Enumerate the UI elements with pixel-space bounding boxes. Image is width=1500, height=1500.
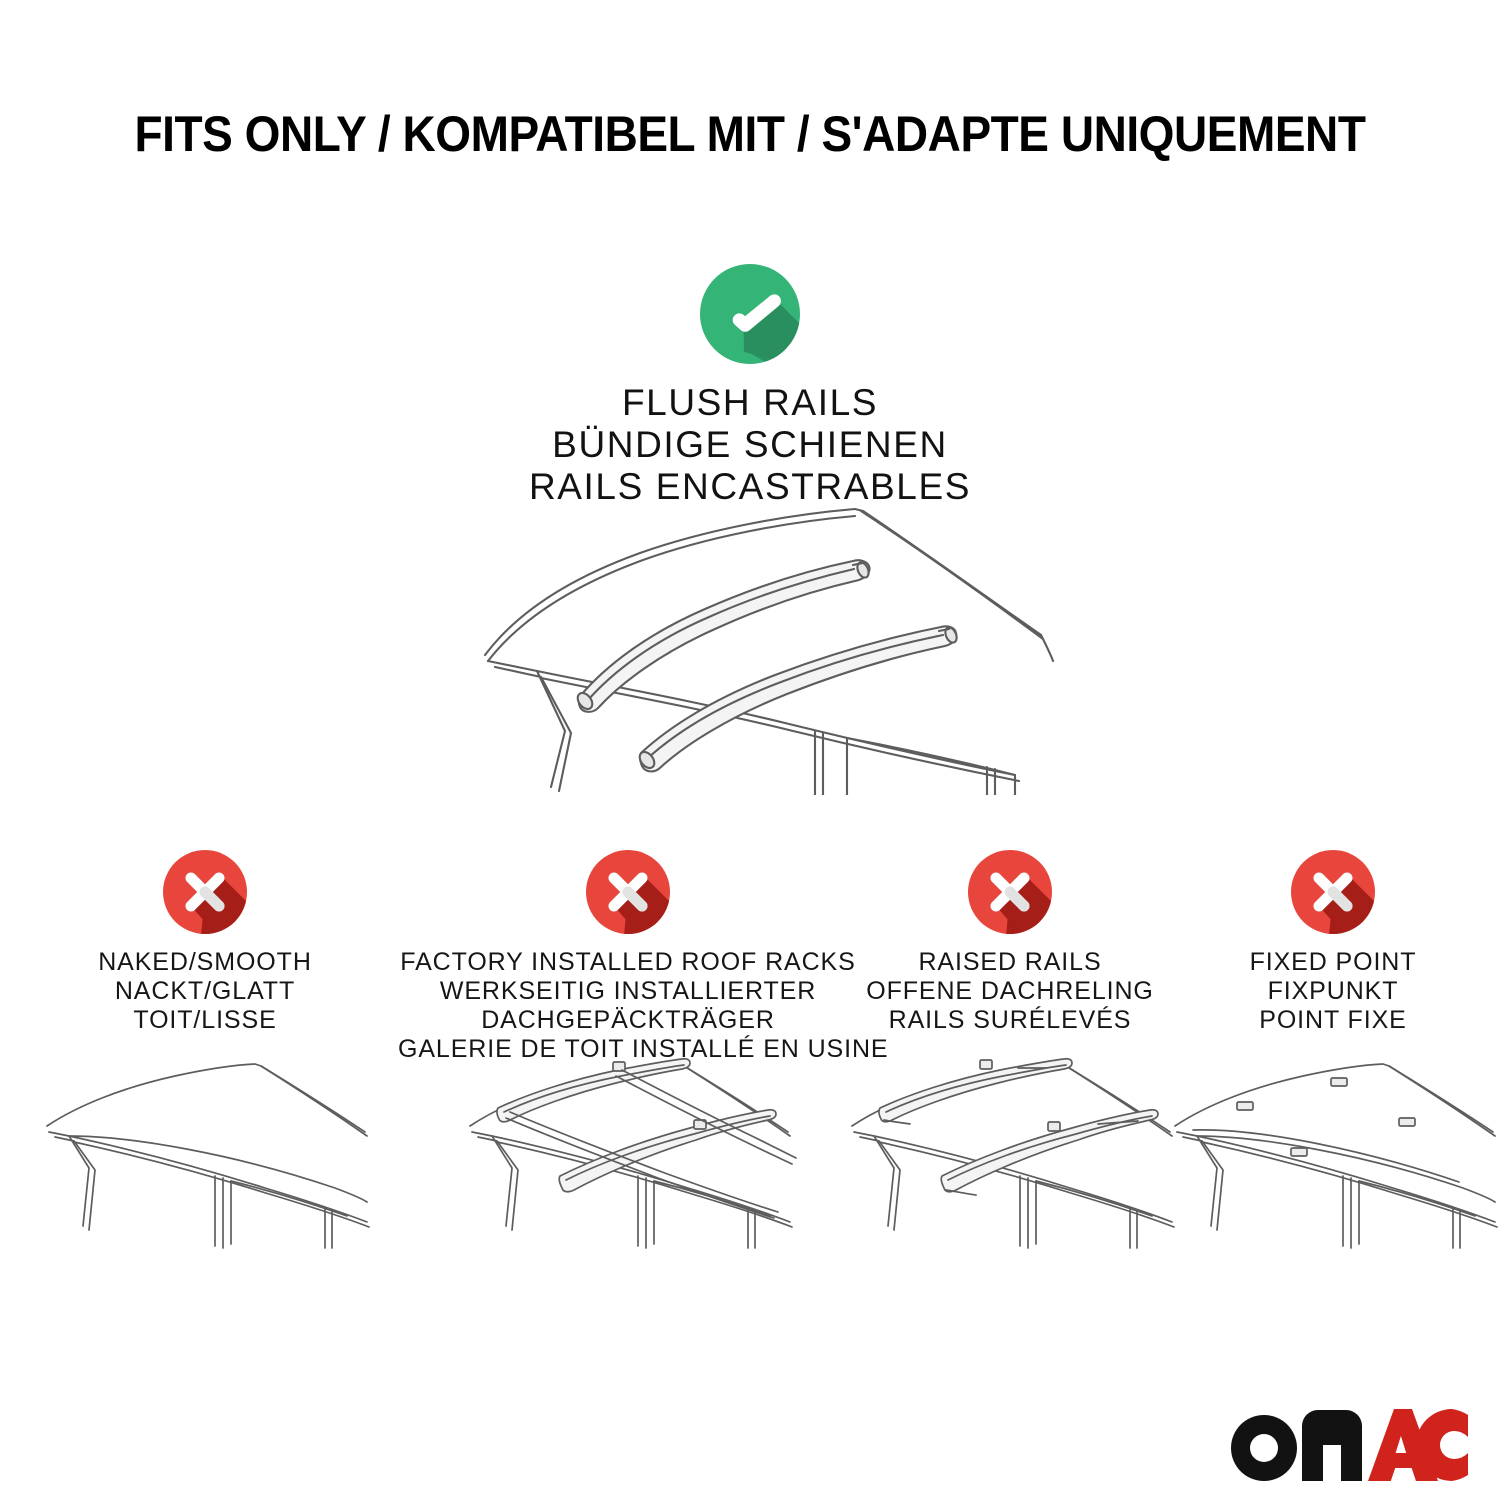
incompatible-label-raised-rails: RAISED RAILS OFFENE DACHRELING RAILS SUR… [830, 948, 1190, 1035]
compatible-label-de: BÜNDIGE SCHIENEN [0, 424, 1500, 466]
car-roof-factory-roof-racks-illustration [458, 1048, 798, 1283]
compatible-label-en: FLUSH RAILS [0, 382, 1500, 424]
label-line-fr: POINT FIXE [1168, 1006, 1498, 1035]
label-line-de: NACKT/GLATT [20, 977, 390, 1006]
cross-circle-icon [584, 848, 672, 936]
car-roof-raised-rails-illustration [840, 1048, 1180, 1283]
page-title: FITS ONLY / KOMPATIBEL MIT / S'ADAPTE UN… [60, 105, 1440, 163]
incompatible-item-factory-roof-racks: FACTORY INSTALLED ROOF RACKS WERKSEITIG … [398, 848, 858, 1064]
label-line-en: RAISED RAILS [830, 948, 1190, 977]
incompatible-label-factory-roof-racks: FACTORY INSTALLED ROOF RACKS WERKSEITIG … [398, 948, 858, 1064]
omac-logo [1228, 1404, 1468, 1486]
label-line-de-2: DACHGEPÄCKTRÄGER [398, 1006, 858, 1035]
compatible-section: FLUSH RAILS BÜNDIGE SCHIENEN RAILS ENCAS… [0, 262, 1500, 508]
label-line-en: FIXED POINT [1168, 948, 1498, 977]
cross-circle-icon [161, 848, 249, 936]
incompatible-row: NAKED/SMOOTH NACKT/GLATT TOIT/LISSE [0, 848, 1500, 1328]
label-line-fr: TOIT/LISSE [20, 1006, 390, 1035]
cross-circle-icon [966, 848, 1054, 936]
label-line-de: OFFENE DACHRELING [830, 977, 1190, 1006]
label-line-en: NAKED/SMOOTH [20, 948, 390, 977]
car-roof-fixed-point-illustration [1163, 1048, 1500, 1283]
label-line-en: FACTORY INSTALLED ROOF RACKS [398, 948, 858, 977]
compatibility-infographic: FITS ONLY / KOMPATIBEL MIT / S'ADAPTE UN… [0, 0, 1500, 1500]
incompatible-label-naked-smooth: NAKED/SMOOTH NACKT/GLATT TOIT/LISSE [20, 948, 390, 1035]
label-line-fr: RAILS SURÉLEVÉS [830, 1006, 1190, 1035]
incompatible-item-fixed-point: FIXED POINT FIXPUNKT POINT FIXE [1168, 848, 1498, 1035]
incompatible-item-naked-smooth: NAKED/SMOOTH NACKT/GLATT TOIT/LISSE [20, 848, 390, 1035]
incompatible-item-raised-rails: RAISED RAILS OFFENE DACHRELING RAILS SUR… [830, 848, 1190, 1035]
car-roof-naked-smooth-illustration [35, 1048, 375, 1283]
check-circle-icon [698, 262, 802, 366]
cross-circle-icon [1289, 848, 1377, 936]
car-roof-flush-rails-illustration [455, 495, 1055, 795]
label-line-de-1: WERKSEITIG INSTALLIERTER [398, 977, 858, 1006]
compatible-label: FLUSH RAILS BÜNDIGE SCHIENEN RAILS ENCAS… [0, 382, 1500, 508]
label-line-de: FIXPUNKT [1168, 977, 1498, 1006]
incompatible-label-fixed-point: FIXED POINT FIXPUNKT POINT FIXE [1168, 948, 1498, 1035]
